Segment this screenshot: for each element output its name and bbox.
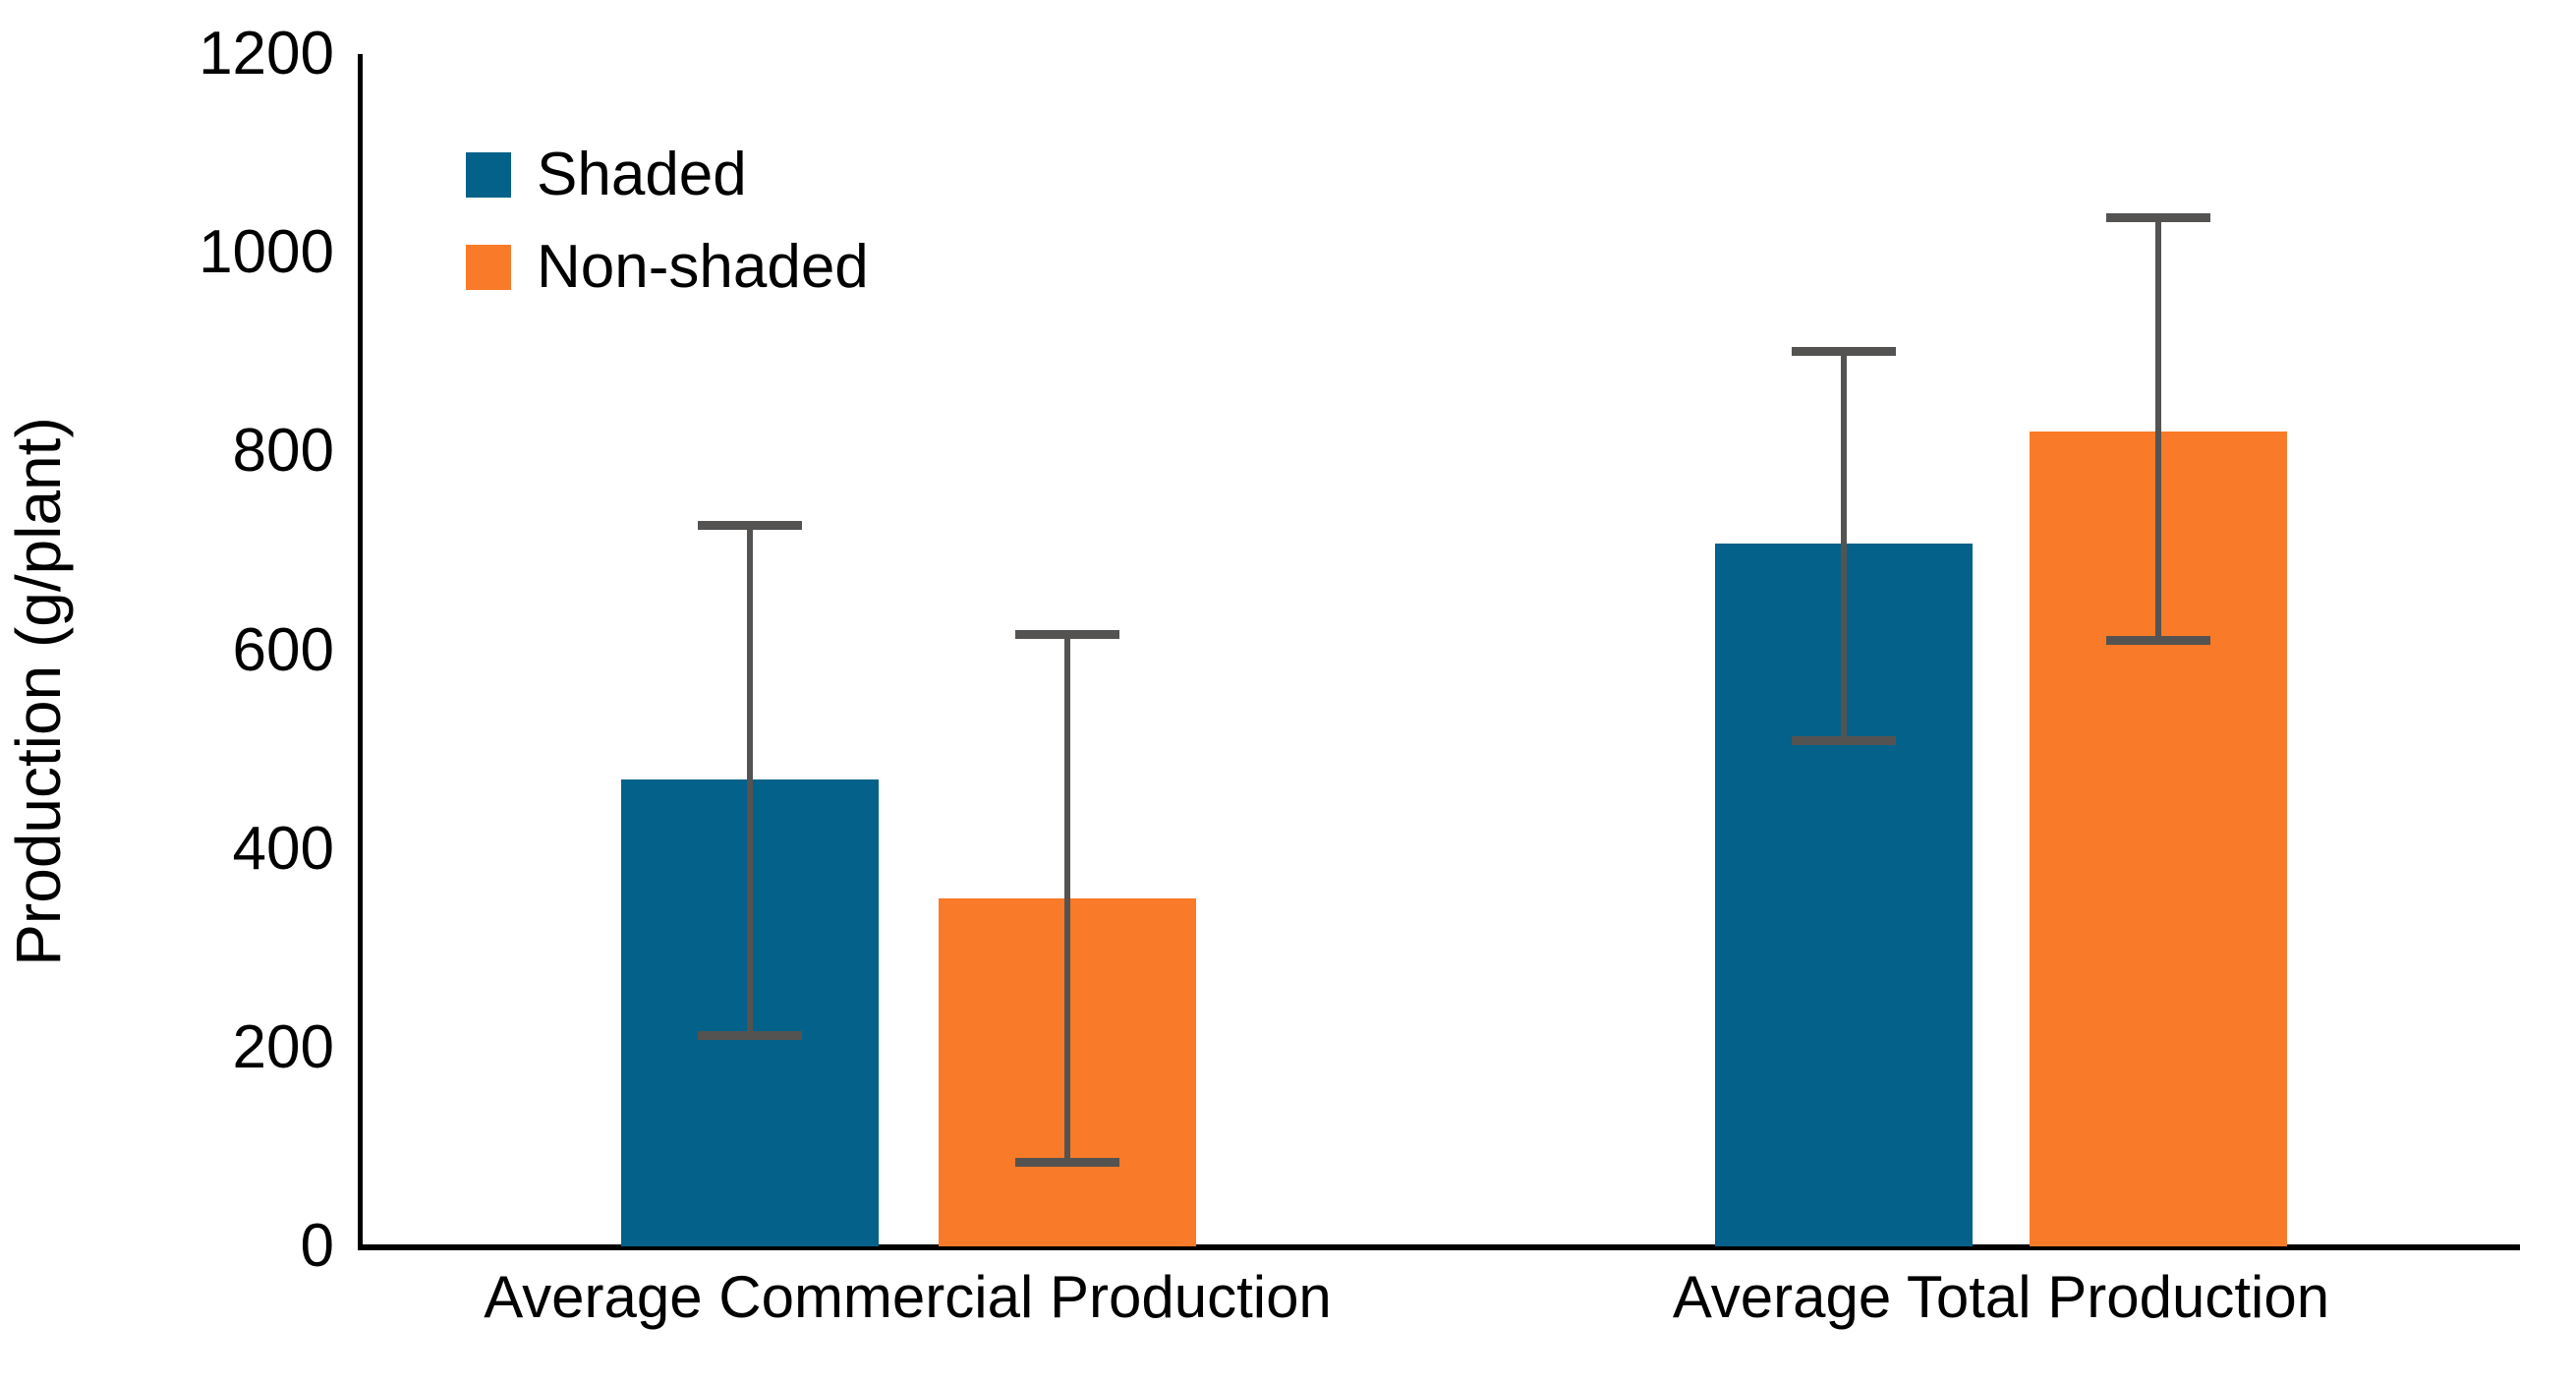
error-bar-cap-upper: [1015, 630, 1119, 639]
legend-item-shaded[interactable]: Shaded: [466, 143, 869, 207]
y-axis-tick-label: 0: [93, 1216, 334, 1277]
error-bar-non-shaded-0: [939, 630, 1196, 1167]
y-axis-tick-label: 800: [93, 421, 334, 482]
error-bar-cap-upper: [698, 521, 802, 530]
y-axis-tick-label: 1200: [93, 24, 334, 85]
y-axis-tick-label: 600: [93, 620, 334, 681]
error-bar-stem: [2155, 213, 2161, 646]
error-bar-cap-upper: [2106, 213, 2210, 222]
x-axis-category-label-0: Average Commercial Production: [318, 1268, 1498, 1327]
error-bar-non-shaded-1: [2030, 213, 2287, 646]
legend-swatch-icon: [466, 245, 511, 290]
legend-label: Non-shaded: [537, 237, 869, 298]
error-bar-cap-lower: [698, 1031, 802, 1040]
bar-chart: Production (g/plant) 1200100080060040020…: [0, 0, 2576, 1383]
y-axis-tick-label: 200: [93, 1017, 334, 1078]
error-bar-stem: [1064, 630, 1070, 1167]
legend-item-non-shaded[interactable]: Non-shaded: [466, 235, 869, 300]
error-bar-cap-lower: [1792, 736, 1896, 745]
error-bar-shaded-0: [621, 521, 879, 1040]
y-axis-tick-label: 400: [93, 819, 334, 880]
error-bar-cap-upper: [1792, 347, 1896, 356]
error-bar-stem: [747, 521, 753, 1040]
y-axis-tick-label: 1000: [93, 222, 334, 283]
error-bar-shaded-1: [1715, 347, 1973, 744]
y-axis-title: Production (g/plant): [0, 0, 77, 1383]
x-axis-category-label-1: Average Total Production: [1411, 1268, 2576, 1327]
error-bar-stem: [1841, 347, 1847, 744]
chart-legend: ShadedNon-shaded: [466, 143, 869, 327]
error-bar-cap-lower: [1015, 1158, 1119, 1167]
error-bar-cap-lower: [2106, 636, 2210, 645]
legend-label: Shaded: [537, 144, 747, 205]
legend-swatch-icon: [466, 152, 511, 198]
